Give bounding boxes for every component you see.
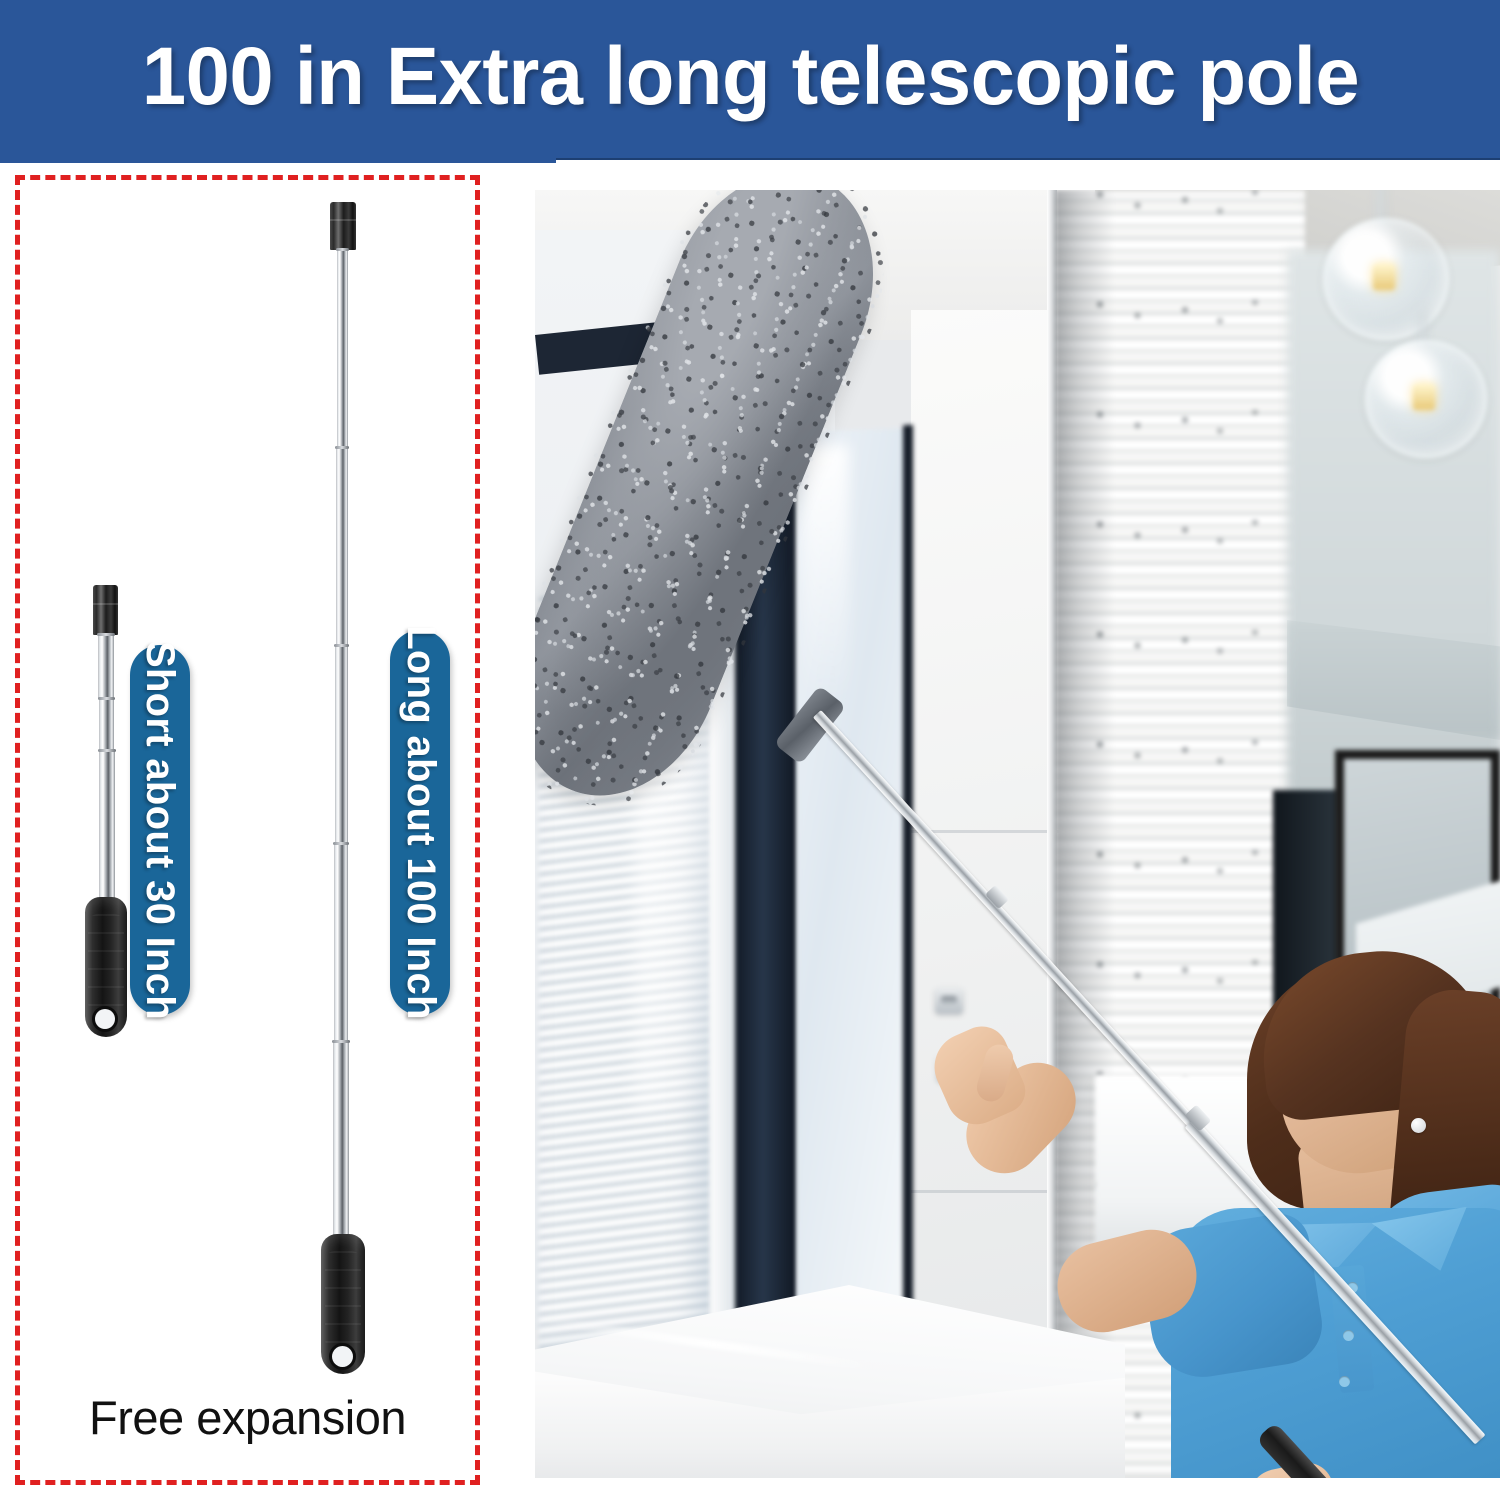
banner-title: 100 in Extra long telescopic pole [141, 36, 1358, 122]
earring [1411, 1118, 1426, 1133]
long-pole-segment-2 [336, 446, 348, 646]
short-pole-grip-ribs [88, 914, 123, 1012]
header-banner: 100 in Extra long telescopic pole [0, 0, 1500, 158]
filament-1 [1373, 264, 1395, 290]
short-pole-segment-1 [98, 633, 114, 699]
short-pole-tip-icon [93, 585, 118, 635]
long-pole-tip-icon [330, 202, 356, 250]
banner-underline-left [0, 158, 556, 163]
shower-valve-upper-icon [935, 988, 963, 1014]
window-edge [903, 425, 913, 1385]
short-pole-segment-3 [99, 749, 115, 901]
long-pole-assembly [315, 202, 375, 1414]
shirt-button-2 [1343, 1330, 1354, 1341]
long-pole-segment-4 [334, 842, 348, 1042]
dashed-outline-box: Short about 30 Inch Long about 100 Inch [15, 175, 480, 1485]
label-pill-long: Long about 100 Inch [390, 630, 450, 1015]
short-pole-assembly [75, 585, 135, 1045]
long-pole-grip-ribs [325, 1251, 362, 1349]
lifestyle-photo [535, 190, 1500, 1478]
product-diagram-panel: Short about 30 Inch Long about 100 Inch … [0, 165, 500, 1495]
banner-underline-right [556, 158, 1500, 160]
shirt-button-3 [1339, 1376, 1350, 1387]
pendant-bulb-2 [1365, 340, 1487, 458]
label-pill-short: Short about 30 Inch [130, 645, 190, 1015]
pendant-bulb-1 [1323, 218, 1449, 340]
long-pole-hang-hole [332, 1346, 353, 1367]
long-pole-segment-3 [335, 644, 348, 844]
filament-2 [1413, 384, 1435, 410]
window-glass-glow [803, 445, 849, 705]
label-pill-long-text: Long about 100 Inch [398, 625, 443, 1020]
short-pole-hang-hole [95, 1009, 115, 1029]
long-pole-segment-1 [337, 248, 348, 448]
label-pill-short-text: Short about 30 Inch [138, 640, 183, 1019]
photo-scene [535, 190, 1500, 1478]
long-pole-segment-5 [333, 1040, 349, 1240]
free-expansion-caption: Free expansion [15, 1390, 480, 1445]
short-pole-segment-2 [99, 697, 114, 751]
